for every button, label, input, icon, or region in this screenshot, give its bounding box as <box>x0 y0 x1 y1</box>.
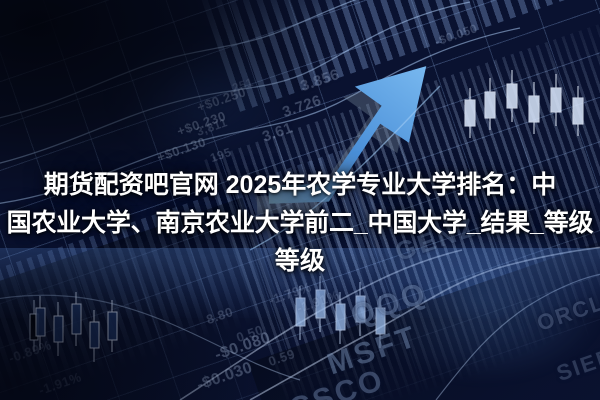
headline-text: 期货配资吧官网 2025年农学专业大学排名：中 国农业大学、南京农业大学前二_中… <box>0 166 600 280</box>
thumbnail-canvas: +$0.250 +$0.230 +$0.130 -$0.050 3.856 3.… <box>0 0 600 400</box>
headline-line-2: 国农业大学、南京农业大学前二_中国大学_结果_等级 <box>0 204 600 242</box>
headline-line-1: 期货配资吧官网 2025年农学专业大学排名：中 <box>0 166 600 204</box>
headline-line-3: 等级 <box>0 242 600 280</box>
